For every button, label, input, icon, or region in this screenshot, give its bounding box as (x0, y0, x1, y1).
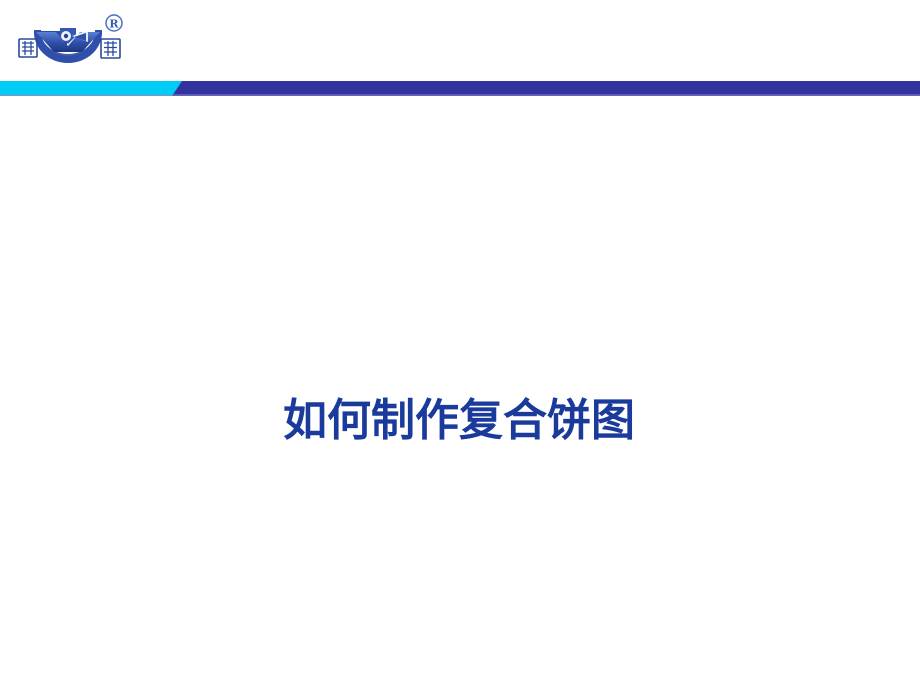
slide-body-area: 如何制作复合饼图 (0, 96, 920, 690)
divider-navy-segment (172, 81, 920, 96)
slide-canvas: R 如何制作复合饼图 (0, 0, 920, 690)
header-divider-bar (0, 81, 920, 96)
logo-right-character-icon (101, 39, 120, 58)
registered-trademark-icon: R (106, 15, 122, 31)
title-block: 如何制作复合饼图 (0, 392, 920, 450)
logo-left-character-icon (19, 39, 37, 57)
peng-xiang-corporate-logo: R (10, 6, 130, 72)
page-title: 如何制作复合饼图 (283, 392, 635, 450)
svg-text:R: R (109, 18, 119, 31)
divider-cyan-segment (0, 81, 182, 96)
